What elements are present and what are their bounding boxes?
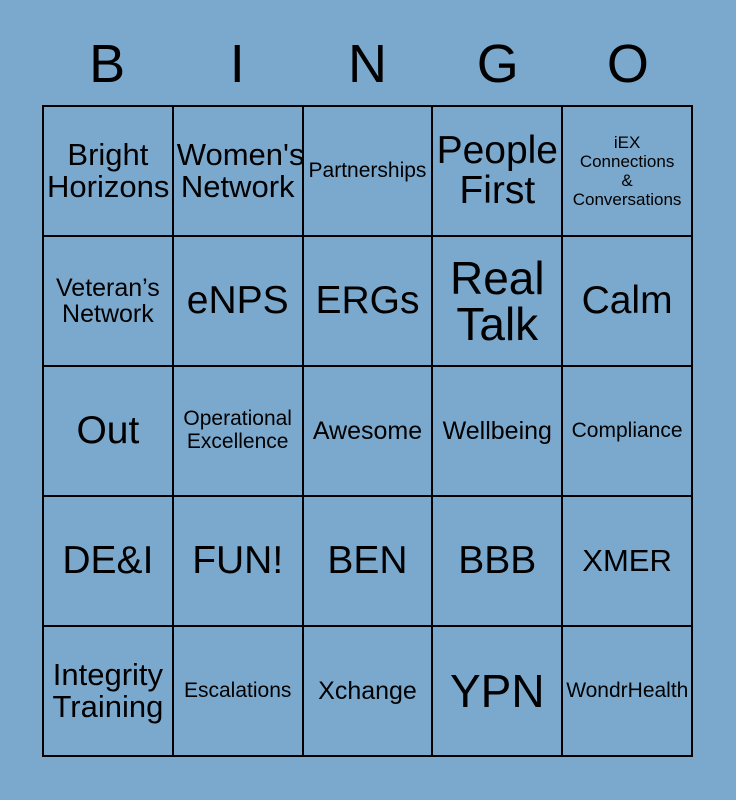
bingo-cell[interactable]: Compliance	[563, 367, 693, 497]
bingo-cell-label: Veteran’s Network	[47, 275, 169, 328]
bingo-cell-label: BEN	[307, 541, 429, 581]
bingo-cell[interactable]: YPN	[433, 627, 563, 757]
bingo-cell-label: People First	[436, 131, 558, 211]
bingo-cell-label: XMER	[566, 545, 688, 577]
bingo-cell-label: Real Talk	[436, 255, 558, 347]
bingo-cell[interactable]: Bright Horizons	[44, 107, 174, 237]
bingo-cell[interactable]: Operational Excellence	[174, 367, 304, 497]
bingo-cell[interactable]: DE&I	[44, 497, 174, 627]
bingo-cell-label: DE&I	[47, 541, 169, 581]
bingo-cell-label: Escalations	[177, 680, 299, 703]
bingo-cell[interactable]: WondrHealth	[563, 627, 693, 757]
bingo-cell-label: Awesome	[307, 418, 429, 445]
bingo-cell[interactable]: Wellbeing	[433, 367, 563, 497]
bingo-cell[interactable]: Awesome	[304, 367, 434, 497]
bingo-cell[interactable]: Xchange	[304, 627, 434, 757]
bingo-header-letter-n: N	[302, 28, 432, 100]
bingo-cell[interactable]: People First	[433, 107, 563, 237]
bingo-cell-label: Out	[47, 411, 169, 451]
bingo-cell-label: ERGs	[307, 281, 429, 321]
bingo-cell-label: Operational Excellence	[177, 408, 299, 453]
bingo-cell-label: Calm	[566, 281, 688, 321]
bingo-cell-label: eNPS	[177, 281, 299, 321]
bingo-cell-label: Compliance	[566, 420, 688, 443]
bingo-header-letter-g: G	[433, 28, 563, 100]
bingo-cell[interactable]: Calm	[563, 237, 693, 367]
bingo-cell-label: WondrHealth	[566, 680, 688, 703]
bingo-cell[interactable]: Out	[44, 367, 174, 497]
bingo-cell-label: iEX Connections & Conversations	[566, 133, 688, 209]
bingo-header-letter-i: I	[172, 28, 302, 100]
bingo-cell[interactable]: XMER	[563, 497, 693, 627]
bingo-cell-label: Wellbeing	[436, 418, 558, 445]
bingo-cell-label: Women's Network	[177, 139, 299, 203]
bingo-cell-label: Partnerships	[307, 160, 429, 183]
bingo-cell[interactable]: eNPS	[174, 237, 304, 367]
bingo-card: B I N G O Bright Horizons Women's Networ…	[0, 0, 736, 800]
bingo-cell[interactable]: Women's Network	[174, 107, 304, 237]
bingo-cell[interactable]: iEX Connections & Conversations	[563, 107, 693, 237]
bingo-cell[interactable]: Veteran’s Network	[44, 237, 174, 367]
bingo-cell[interactable]: Integrity Training	[44, 627, 174, 757]
bingo-header-letter-b: B	[42, 28, 172, 100]
bingo-cell[interactable]: ERGs	[304, 237, 434, 367]
bingo-cell[interactable]: Real Talk	[433, 237, 563, 367]
bingo-cell[interactable]: Partnerships	[304, 107, 434, 237]
bingo-cell[interactable]: BBB	[433, 497, 563, 627]
bingo-cell-label: Xchange	[307, 678, 429, 705]
bingo-cell-label: Bright Horizons	[47, 139, 169, 203]
bingo-cell-label: BBB	[436, 541, 558, 581]
bingo-cell[interactable]: BEN	[304, 497, 434, 627]
bingo-header: B I N G O	[42, 28, 693, 100]
bingo-cell-label: FUN!	[177, 541, 299, 581]
bingo-grid: Bright Horizons Women's Network Partners…	[42, 105, 693, 757]
bingo-cell[interactable]: Escalations	[174, 627, 304, 757]
bingo-cell-label: YPN	[436, 668, 558, 714]
bingo-header-letter-o: O	[563, 28, 693, 100]
bingo-cell[interactable]: FUN!	[174, 497, 304, 627]
bingo-cell-label: Integrity Training	[47, 659, 169, 723]
